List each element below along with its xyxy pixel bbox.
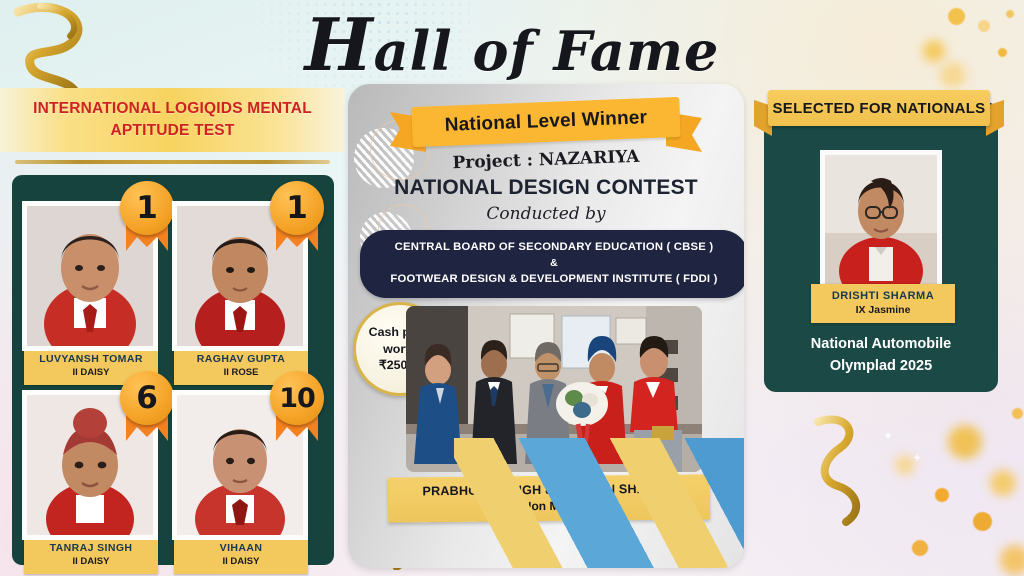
page-title: Hall of Fame bbox=[0, 2, 1024, 87]
event-name: National Automobile Olymplad 2025 bbox=[764, 334, 998, 378]
student-photo bbox=[820, 150, 942, 292]
student-name: LUVYANSH TOMAR bbox=[26, 353, 156, 365]
student-name: RAGHAV GUPTA bbox=[176, 353, 306, 365]
student-nameplate: DRISHTI SHARMA IX Jasmine bbox=[811, 284, 955, 323]
rank-badge-icon: 10 bbox=[270, 371, 324, 443]
student-class: IX Jasmine bbox=[813, 304, 953, 316]
page-title-capital: H bbox=[305, 2, 374, 87]
banner-label: National Level Winner bbox=[411, 97, 680, 147]
organiser-line-3: FOOTWEAR DESIGN & DEVELOPMENT INSTITUTE … bbox=[368, 271, 740, 288]
banner-body: SELECTED FOR NATIONALS bbox=[768, 90, 990, 126]
rank-number: 6 bbox=[136, 383, 158, 414]
event-line-2: Olymplad 2025 bbox=[764, 356, 998, 378]
exam-title-line1: INTERNATIONAL LOGIQIDS MENTAL bbox=[33, 98, 312, 120]
exam-title-band: INTERNATIONAL LOGIQIDS MENTAL APTITUDE T… bbox=[0, 88, 345, 152]
exam-title-line2: APTITUDE TEST bbox=[110, 120, 234, 142]
organiser-line-1: CENTRAL BOARD OF SECONDARY EDUCATION ( C… bbox=[368, 239, 740, 256]
contest-title: NATIONAL DESIGN CONTEST bbox=[348, 176, 744, 200]
poster-canvas: ✦ ✦ ✦ ✦ Hall of Fame INTERNATIONAL LOGIQ… bbox=[0, 0, 1024, 576]
student-name: DRISHTI SHARMA bbox=[813, 290, 953, 302]
student-class: II DAISY bbox=[176, 556, 306, 567]
gold-divider bbox=[15, 160, 330, 164]
rank-badge-icon: 1 bbox=[270, 181, 324, 253]
rank-badge-icon: 6 bbox=[120, 371, 174, 443]
rank-number: 10 bbox=[279, 385, 315, 412]
selected-for-nationals-banner: SELECTED FOR NATIONALS bbox=[754, 90, 1004, 132]
student-nameplate: TANRAJ SINGH II DAISY bbox=[24, 536, 158, 574]
student-portrait-drishti bbox=[825, 155, 937, 287]
student-name: TANRAJ SINGH bbox=[26, 542, 156, 554]
diagonal-stripes-decor bbox=[454, 438, 744, 568]
banner-label: SELECTED FOR NATIONALS bbox=[773, 100, 986, 117]
rank-number: 1 bbox=[136, 193, 158, 224]
center-award-panel: National Level Winner Project : NAZARIYA… bbox=[348, 84, 744, 568]
rank-number: 1 bbox=[286, 193, 308, 224]
student-nameplate: VIHAAN II DAISY bbox=[174, 536, 308, 574]
page-title-rest: all of Fame bbox=[374, 19, 720, 83]
rank-badge-icon: 1 bbox=[120, 181, 174, 253]
event-line-1: National Automobile bbox=[764, 334, 998, 356]
student-name: VIHAAN bbox=[176, 542, 306, 554]
ranks-card-grid: LUVYANSH TOMAR II DAISY 1 bbox=[12, 175, 334, 565]
right-nationals-panel: SELECTED FOR NATIONALS DRISHTI SHARMA bbox=[764, 102, 998, 392]
conducted-by-label: Conducted by bbox=[348, 204, 744, 224]
student-class: II DAISY bbox=[26, 556, 156, 567]
organisers-box: CENTRAL BOARD OF SECONDARY EDUCATION ( C… bbox=[360, 230, 744, 298]
national-level-winner-banner: National Level Winner bbox=[390, 98, 702, 150]
organiser-line-2: & bbox=[368, 256, 740, 271]
